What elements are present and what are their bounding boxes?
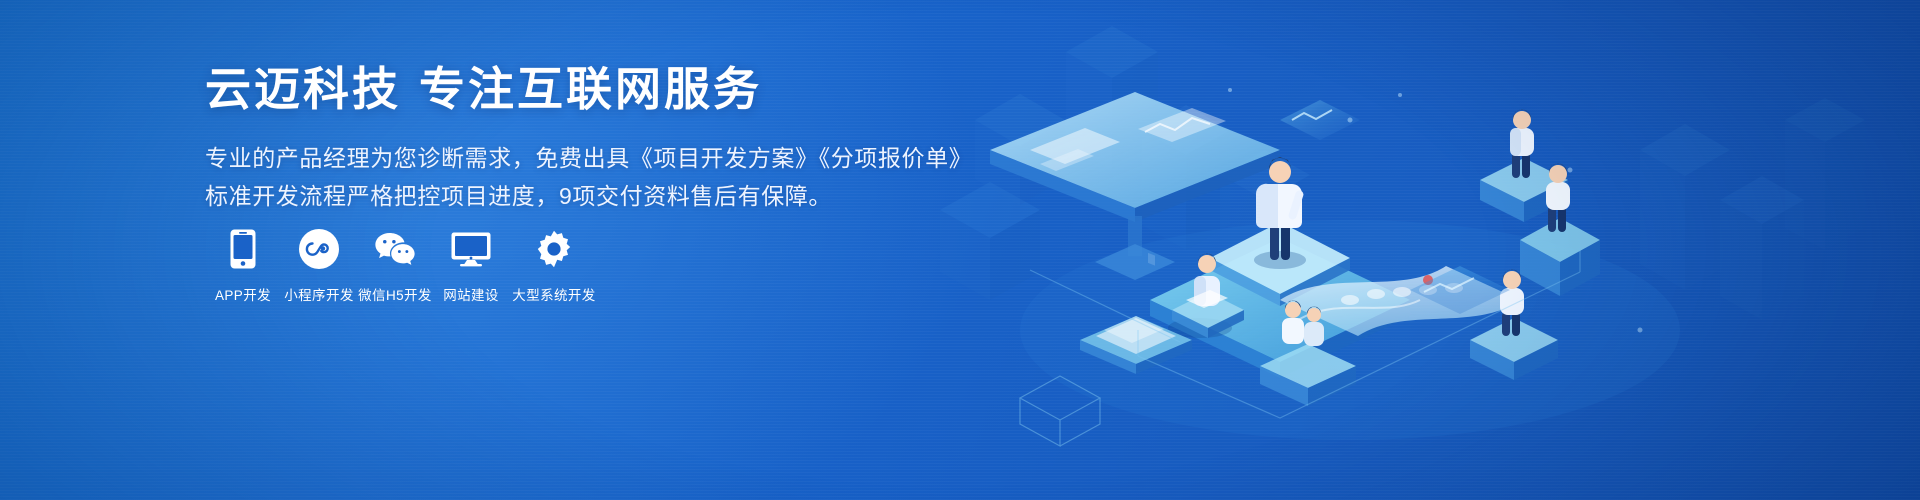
mobile-phone-icon (222, 228, 264, 270)
hero-copy: 云迈科技专注互联网服务 专业的产品经理为您诊断需求，免费出具《项目开发方案》《分… (205, 62, 925, 215)
gear-icon (533, 228, 575, 270)
headline-tagline: 专注互联网服务 (419, 63, 762, 115)
subtitle-line-1: 专业的产品经理为您诊断需求，免费出具《项目开发方案》《分项报价单》 (205, 139, 925, 177)
service-list: APP开发 小程序开发 (205, 228, 599, 304)
subtitle-line-2: 标准开发流程严格把控项目进度，9项交付资料售后有保障。 (205, 177, 925, 215)
service-item-large-system[interactable]: 大型系统开发 (509, 228, 599, 304)
service-label: 小程序开发 (284, 284, 354, 304)
service-label: 微信H5开发 (358, 284, 432, 304)
headline-brand: 云迈科技 (205, 63, 401, 115)
service-label: 大型系统开发 (512, 284, 595, 304)
wechat-icon (374, 228, 416, 270)
hero-illustration (880, 0, 1920, 500)
service-item-wechat-h5[interactable]: 微信H5开发 (357, 228, 433, 304)
service-item-website[interactable]: 网站建设 (433, 228, 509, 304)
mini-program-icon (298, 228, 340, 270)
hero-banner: 云迈科技专注互联网服务 专业的产品经理为您诊断需求，免费出具《项目开发方案》《分… (0, 0, 1920, 500)
monitor-icon (450, 228, 492, 270)
service-item-mini-program[interactable]: 小程序开发 (281, 228, 357, 304)
service-label: 网站建设 (443, 284, 499, 304)
service-item-app[interactable]: APP开发 (205, 228, 281, 304)
page-title: 云迈科技专注互联网服务 (205, 62, 925, 117)
service-label: APP开发 (215, 284, 271, 304)
